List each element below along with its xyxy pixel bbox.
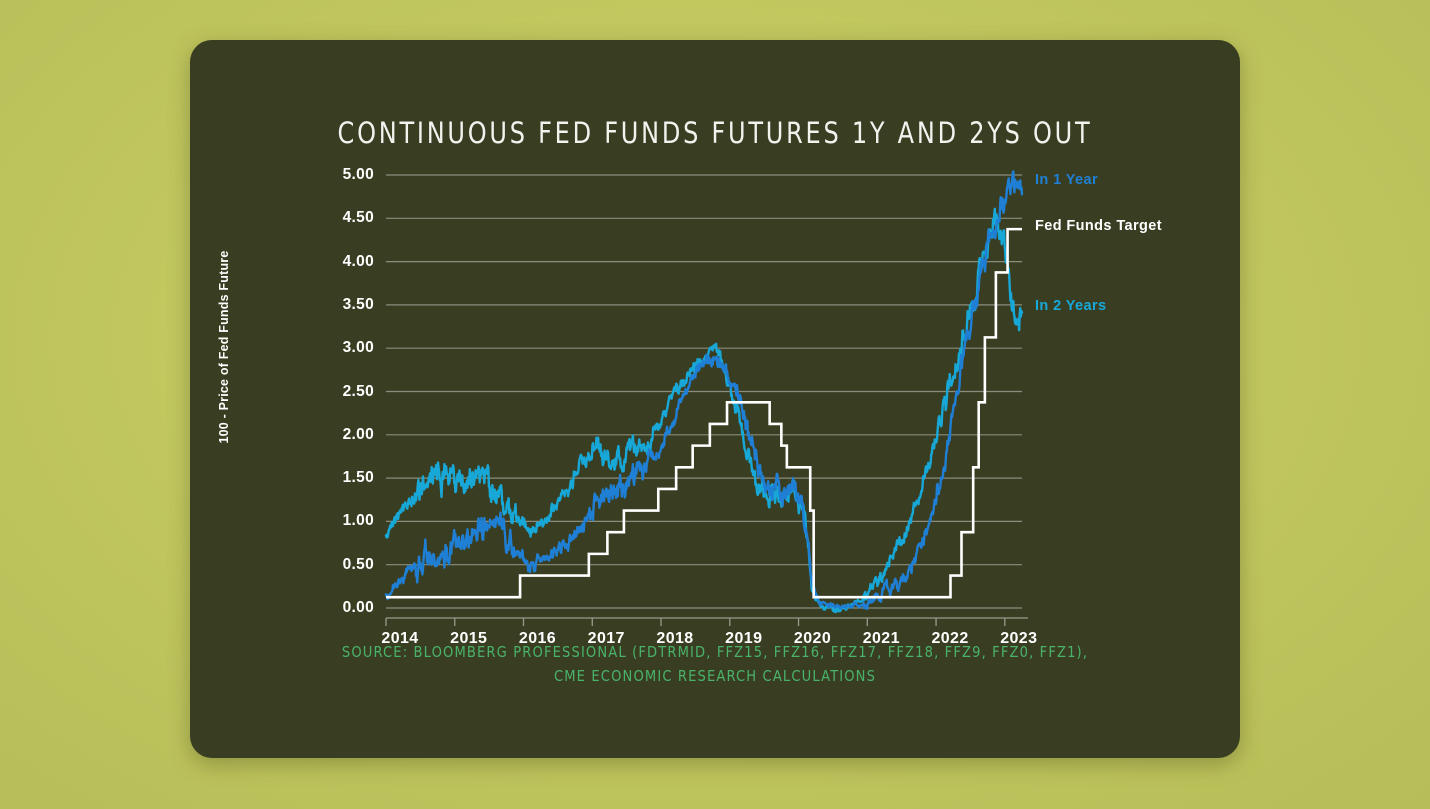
- y-axis-label: 100 - Price of Fed Funds Future: [217, 217, 231, 477]
- source-line-2: CME ECONOMIC RESEARCH CALCULATIONS: [222, 664, 1209, 688]
- y-axis-tick: 1.50: [312, 469, 374, 487]
- y-axis-tick: 1.00: [312, 512, 374, 530]
- y-axis-tick: 4.50: [312, 209, 374, 227]
- y-axis-tick: 0.00: [312, 599, 374, 617]
- source-line-1: SOURCE: BLOOMBERG PROFESSIONAL (FDTRMID,…: [222, 640, 1209, 664]
- source-note: SOURCE: BLOOMBERG PROFESSIONAL (FDTRMID,…: [222, 640, 1209, 688]
- legend-item-in-2-years[interactable]: In 2 Years: [1035, 298, 1106, 314]
- legend-item-fed-funds-target[interactable]: Fed Funds Target: [1035, 218, 1162, 234]
- y-axis-tick: 2.00: [312, 426, 374, 444]
- y-axis-tick: 5.00: [312, 166, 374, 184]
- y-axis-tick: 0.50: [312, 556, 374, 574]
- y-axis-tick: 3.00: [312, 339, 374, 357]
- y-axis-tick: 3.50: [312, 296, 374, 314]
- legend-item-in-1-year[interactable]: In 1 Year: [1035, 172, 1098, 188]
- y-axis-tick: 4.00: [312, 253, 374, 271]
- chart-card: CONTINUOUS FED FUNDS FUTURES 1Y AND 2YS …: [190, 40, 1240, 758]
- y-axis-tick: 2.50: [312, 383, 374, 401]
